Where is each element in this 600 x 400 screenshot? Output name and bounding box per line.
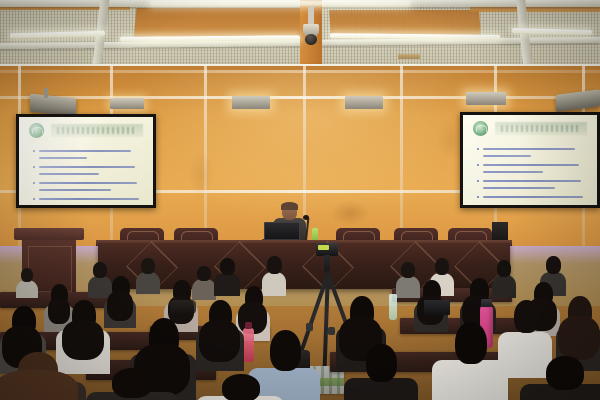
- clear-water-bottle: [389, 294, 397, 320]
- ceiling: [0, 0, 600, 72]
- university-emblem-icon: [473, 121, 488, 136]
- audience-member: [196, 374, 284, 400]
- ceiling-wood-beam: [134, 8, 317, 38]
- audience-member: [0, 352, 86, 400]
- audience-member: [432, 322, 508, 400]
- wall-seam: [0, 70, 600, 73]
- downlight-center-left: [232, 96, 270, 109]
- lecture-hall-photo: [0, 0, 600, 400]
- projector-mount: [44, 88, 48, 98]
- downlight-right: [466, 92, 506, 105]
- wall-stain: [188, 150, 214, 200]
- audience-member: [16, 268, 38, 296]
- slide-banner-image: [495, 122, 587, 135]
- ceiling-wood-beam: [329, 10, 481, 36]
- projection-screen-left[interactable]: [16, 114, 156, 208]
- wall-stain: [330, 200, 370, 226]
- dome-security-camera-icon: [302, 6, 320, 48]
- desk-microphone: [303, 215, 309, 220]
- downlight-center-right: [345, 96, 383, 109]
- audience-laptop[interactable]: [424, 300, 450, 315]
- audience-member: [520, 356, 600, 400]
- audience-member: [196, 300, 244, 366]
- slide-banner-image: [51, 124, 143, 137]
- air-vent: [398, 54, 420, 59]
- backpack: [170, 300, 196, 314]
- wall-seam: [0, 96, 600, 99]
- audience-member: [136, 258, 160, 292]
- downlight-left: [110, 98, 144, 109]
- audience-member: [344, 344, 418, 400]
- audience-member: [86, 368, 178, 400]
- projection-screen-right[interactable]: [460, 112, 600, 208]
- university-emblem-icon: [29, 123, 44, 138]
- fluorescent-strip-light: [150, 0, 410, 6]
